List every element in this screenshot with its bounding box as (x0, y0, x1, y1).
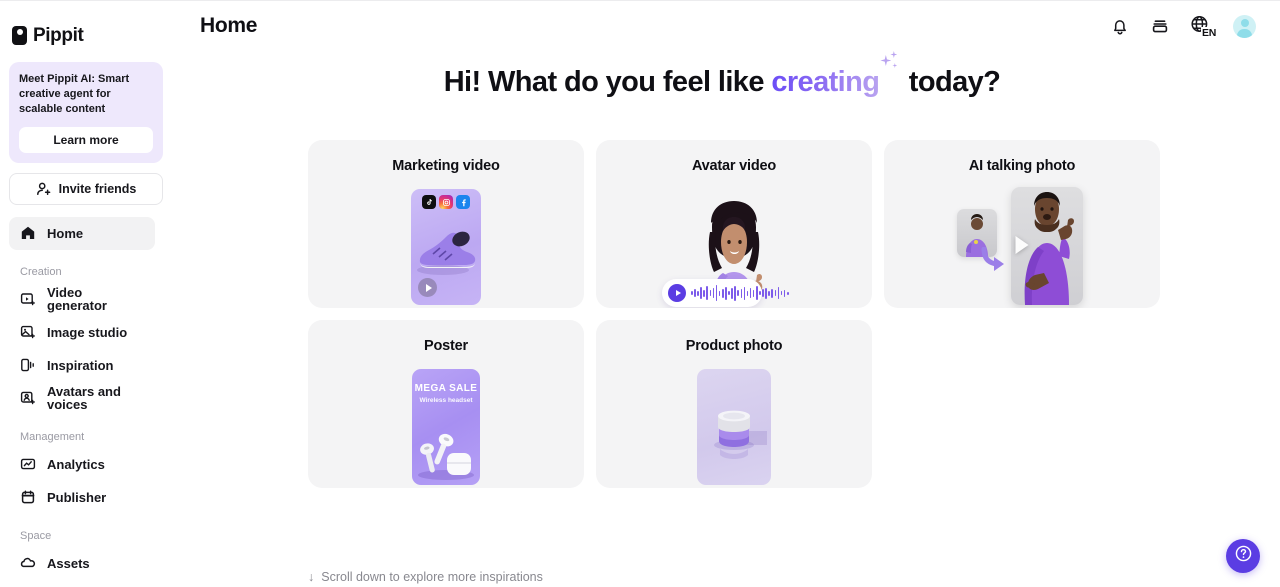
home-icon (20, 225, 36, 241)
cloud-icon (20, 555, 36, 571)
scroll-hint: ↓ Scroll down to explore more inspiratio… (308, 570, 543, 584)
headline-part2: today? (901, 66, 1000, 98)
analytics-icon (20, 456, 36, 472)
sidebar-group-management-title: Management (4, 431, 160, 443)
creation-cards-grid: Marketing video (308, 140, 1160, 488)
sidebar-item-assets-label: Assets (47, 557, 90, 570)
phone-wave-icon (20, 357, 36, 373)
sidebar-item-analytics-label: Analytics (47, 458, 105, 471)
avatar[interactable] (1233, 15, 1256, 38)
poster-thumb: MEGA SALE Wireless headset (308, 366, 584, 488)
sidebar-item-image-studio-label: Image studio (47, 326, 127, 339)
card-title: AI talking photo (884, 140, 1160, 174)
audio-waveform (691, 284, 789, 302)
headline: Hi! What do you feel like creating today… (164, 66, 1280, 99)
facebook-icon (456, 195, 470, 209)
sidebar-item-home[interactable]: Home (9, 217, 155, 250)
avatar-video-thumb (596, 186, 872, 308)
top-divider (0, 0, 1280, 1)
invite-friends-button[interactable]: Invite friends (9, 173, 163, 205)
scroll-hint-text: Scroll down to explore more inspirations (321, 570, 543, 584)
ai-talking-photo-thumb (884, 186, 1160, 308)
down-arrow-icon: ↓ (308, 570, 314, 584)
sidebar-item-publisher[interactable]: Publisher (9, 481, 155, 514)
video-plus-icon (20, 291, 36, 307)
card-avatar-video[interactable]: Avatar video (596, 140, 872, 308)
sidebar-group-space-title: Space (4, 530, 160, 542)
play-icon[interactable] (668, 284, 686, 302)
play-icon[interactable] (418, 278, 437, 297)
sidebar-group-creation-title: Creation (4, 266, 160, 278)
main-content: Home (164, 0, 1280, 587)
sidebar-item-home-label: Home (47, 227, 83, 240)
headline-highlight: creating (771, 66, 879, 98)
product-photo-thumb (596, 366, 872, 488)
user-plus-icon (36, 181, 52, 197)
page-header: Home (164, 0, 1280, 52)
question-mark-icon (1233, 543, 1254, 569)
learn-more-button[interactable]: Learn more (19, 127, 153, 153)
card-title: Marketing video (308, 140, 584, 174)
curved-arrow-icon (981, 247, 1011, 273)
play-triangle-icon[interactable] (1016, 236, 1029, 254)
headline-part1: Hi! What do you feel like (444, 66, 772, 98)
audio-player-bar[interactable] (662, 279, 762, 307)
instagram-icon (439, 195, 453, 209)
invite-friends-label: Invite friends (59, 182, 137, 196)
image-plus-icon (20, 324, 36, 340)
calendar-icon (20, 489, 36, 505)
sidebar-item-analytics[interactable]: Analytics (9, 448, 155, 481)
help-button[interactable] (1226, 539, 1260, 573)
promo-text: Meet Pippit AI: Smart creative agent for… (19, 72, 153, 117)
sidebar-item-assets[interactable]: Assets (9, 547, 155, 580)
card-title: Poster (308, 320, 584, 354)
sidebar-item-image-studio[interactable]: Image studio (9, 316, 155, 349)
pippit-logo-icon (12, 26, 27, 45)
sneaker-image (413, 223, 479, 279)
sidebar-nav: Home Creation Video generator (4, 217, 160, 580)
card-ai-talking-photo[interactable]: AI talking photo (884, 140, 1160, 308)
sidebar-item-video-generator[interactable]: Video generator (9, 283, 155, 316)
avatar-plus-icon (20, 390, 36, 406)
card-marketing-video[interactable]: Marketing video (308, 140, 584, 308)
card-product-photo[interactable]: Product photo (596, 320, 872, 488)
brand-name: Pippit (33, 25, 83, 47)
tiktok-icon (422, 195, 436, 209)
sidebar-item-inspiration[interactable]: Inspiration (9, 349, 155, 382)
marketing-video-thumb (308, 186, 584, 308)
sidebar-item-publisher-label: Publisher (47, 491, 106, 504)
page-title: Home (200, 14, 257, 38)
card-stack-icon[interactable] (1149, 15, 1171, 37)
card-title: Avatar video (596, 140, 872, 174)
cosmetic-jar-image (697, 369, 771, 485)
app-root: Pippit Meet Pippit AI: Smart creative ag… (0, 0, 1280, 587)
earbuds-image (412, 419, 480, 481)
sidebar: Pippit Meet Pippit AI: Smart creative ag… (0, 0, 164, 587)
sparkles-icon (879, 71, 901, 91)
bell-icon[interactable] (1109, 15, 1131, 37)
poster-subline: Wireless headset (412, 397, 480, 404)
card-poster[interactable]: Poster MEGA SALE Wireless headset (308, 320, 584, 488)
sidebar-item-video-generator-label: Video generator (47, 286, 144, 312)
poster-headline: MEGA SALE (412, 383, 480, 394)
card-title: Product photo (596, 320, 872, 354)
language-selector[interactable]: EN (1189, 14, 1215, 38)
brand-logo[interactable]: Pippit (4, 0, 160, 52)
sidebar-item-avatars-and-voices[interactable]: Avatars and voices (9, 382, 155, 415)
language-code: EN (1201, 27, 1216, 39)
sidebar-item-inspiration-label: Inspiration (47, 359, 113, 372)
sidebar-item-avatars-and-voices-label: Avatars and voices (47, 385, 144, 411)
promo-card: Meet Pippit AI: Smart creative agent for… (9, 62, 163, 163)
header-actions: EN (1109, 14, 1256, 38)
social-icons (422, 195, 470, 209)
